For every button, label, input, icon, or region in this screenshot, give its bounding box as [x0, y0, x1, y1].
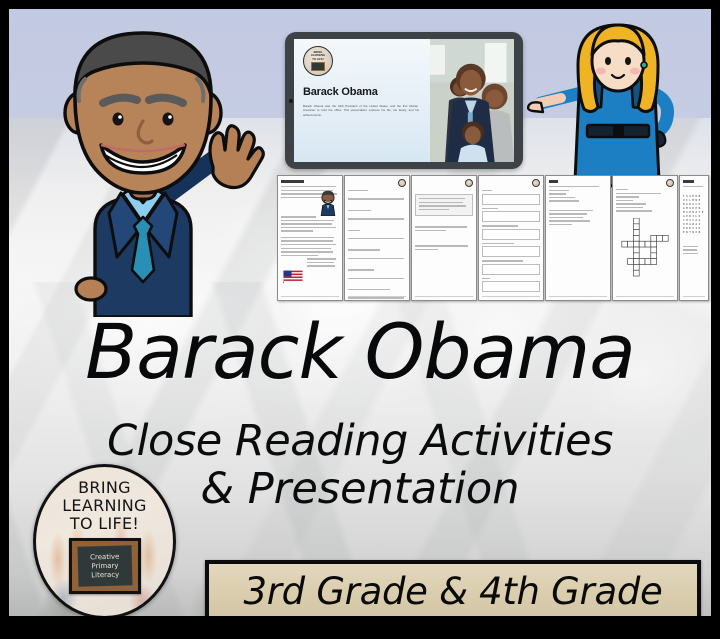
chalkboard-surface: Creative Primary Literacy: [77, 545, 132, 586]
badge-line-3: TO LIFE!: [70, 515, 139, 533]
us-flag-icon: [282, 269, 304, 284]
slide-title: Barack Obama: [303, 86, 424, 98]
cartoon-teacher-character: [527, 21, 707, 191]
badge-line-2: LEARNING: [62, 497, 147, 515]
slide-logo-line3: TO LIFE!: [312, 58, 324, 62]
worksheet-page-reading-passage[interactable]: [277, 175, 343, 301]
chalkboard-icon: Creative Primary Literacy: [69, 538, 141, 594]
svg-text:M S E N A T E: M S E N A T E: [683, 210, 704, 214]
grade-band-banner: 3rd Grade & 4th Grade: [205, 560, 701, 616]
svg-text:A M O D E N: A M O D E N: [683, 206, 701, 210]
svg-text:O H A W A I: O H A W A I: [683, 222, 701, 226]
word-search-grid: T S A E R BO I L M N E B A R A C KA M O …: [683, 193, 709, 237]
waving-hand-icon: [210, 126, 263, 188]
obama-family-photo: [430, 39, 514, 162]
svg-text:A P R I L O: A P R I L O: [683, 214, 701, 218]
svg-text:O I L M N E: O I L M N E: [683, 198, 701, 202]
subtitle-line-1: Close Reading Activities: [9, 417, 711, 465]
svg-text:E N T N O B: E N T N O B: [683, 230, 701, 234]
slide-logo-chalkboard-icon: [311, 62, 325, 71]
worksheet-page-word-search[interactable]: T S A E R BO I L M N E B A R A C KA M O …: [679, 175, 709, 301]
svg-text:C H I C A G: C H I C A G: [683, 218, 701, 222]
mini-obama-cartoon-icon: [318, 190, 338, 216]
svg-text:B A R A C K: B A R A C K: [683, 202, 701, 206]
svg-text:T S A E R B: T S A E R B: [683, 194, 701, 198]
worksheet-page-short-answer[interactable]: [344, 175, 410, 301]
crossword-grid: [616, 218, 674, 278]
worksheet-page-multiple-choice[interactable]: [478, 175, 544, 301]
tablet-mockup[interactable]: BRING LEARNING TO LIFE! Barack Obama Bar…: [285, 32, 523, 169]
svg-text:P R E S I D: P R E S I D: [683, 226, 701, 230]
chalkboard-line-3: Literacy: [91, 570, 119, 580]
badge-line-1: BRING: [78, 479, 131, 497]
worksheet-page-vocabulary[interactable]: [545, 175, 611, 301]
worksheet-fan: T S A E R BO I L M N E B A R A C KA M O …: [277, 175, 709, 305]
tablet-camera-icon: [289, 99, 293, 103]
brand-logo-badge: BRING LEARNING TO LIFE! Creative Primary…: [33, 464, 176, 616]
presentation-slide: BRING LEARNING TO LIFE! Barack Obama Bar…: [294, 39, 514, 162]
cover-inner: BRING LEARNING TO LIFE! Barack Obama Bar…: [9, 9, 711, 616]
slide-body-text: Barack Obama was the 44th President of t…: [303, 104, 420, 117]
worksheet-stamp-icon: [398, 179, 406, 187]
worksheet-page-comprehension[interactable]: [411, 175, 477, 301]
page-title: Barack Obama: [9, 312, 711, 392]
worksheet-stamp-icon: [532, 179, 540, 187]
worksheet-stamp-icon: [465, 179, 473, 187]
worksheet-heading: [281, 180, 304, 183]
worksheet-page-crossword[interactable]: [612, 175, 678, 301]
grade-band-label: 3rd Grade & 4th Grade: [244, 570, 663, 613]
slide-logo-badge: BRING LEARNING TO LIFE!: [303, 46, 333, 76]
worksheet-stamp-icon: [666, 179, 674, 187]
slide-text-panel: BRING LEARNING TO LIFE! Barack Obama Bar…: [294, 39, 430, 162]
product-cover: BRING LEARNING TO LIFE! Barack Obama Bar…: [0, 0, 720, 639]
cartoon-obama-character: [17, 17, 267, 317]
